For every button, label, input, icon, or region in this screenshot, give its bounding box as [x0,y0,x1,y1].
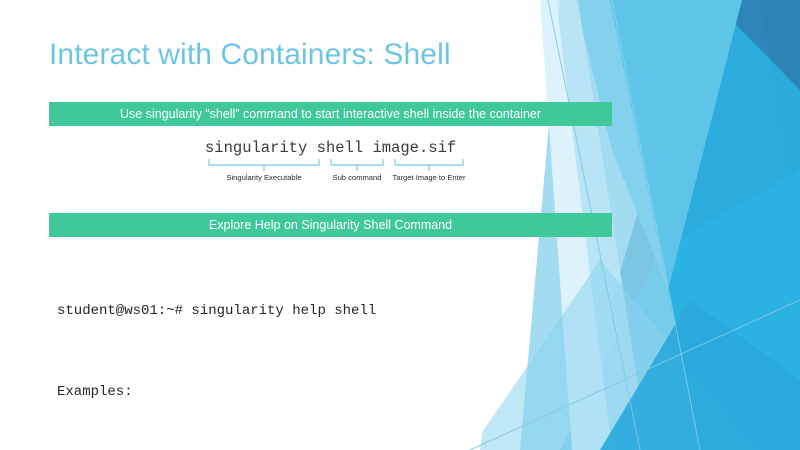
bracket-image [395,159,463,165]
command-token-executable: singularity [205,138,307,158]
command-space-2 [363,139,372,157]
command-token-subcommand: shell [317,138,364,158]
terminal-line: Examples: [57,379,497,406]
bracket-subcommand [331,159,383,165]
shape-navy-right [718,0,800,200]
label-singularity-executable: Singularity Executable [205,172,323,184]
command-breakdown-diagram: singularity shell image.sif Singularity … [205,138,467,188]
command-line-text: singularity shell image.sif [205,138,467,158]
page-title: Interact with Containers: Shell [49,36,451,74]
bracket-label-group: Singularity Executable Sub command Targe… [205,172,467,186]
presentation-slide: Interact with Containers: Shell Use sing… [0,0,800,450]
bracket-executable [209,159,319,165]
command-space-1 [307,139,316,157]
shape-deepblue-top [660,0,800,450]
terminal-line: student@ws01:~# singularity help shell [57,298,497,325]
hairline-diagonal-long [612,0,700,450]
shape-pale-bottom-left [470,260,760,450]
banner-top-description: Use singularity “shell” command to start… [49,102,612,126]
bracket-group [205,158,467,172]
shape-midblue-body [612,0,800,450]
shape-lightblue-top-triangle [575,0,742,290]
terminal-output-block: student@ws01:~# singularity help shell E… [57,244,497,450]
shape-cyan-lower-right [560,170,800,450]
hairline-diagonal-shallow [470,300,800,450]
shape-cyan-column [618,0,800,450]
label-target-image: Target Image to Enter [373,172,485,184]
banner-bottom-description: Explore Help on Singularity Shell Comman… [49,213,612,237]
command-token-image: image.sif [372,138,456,158]
shape-bottom-accent [600,300,800,450]
